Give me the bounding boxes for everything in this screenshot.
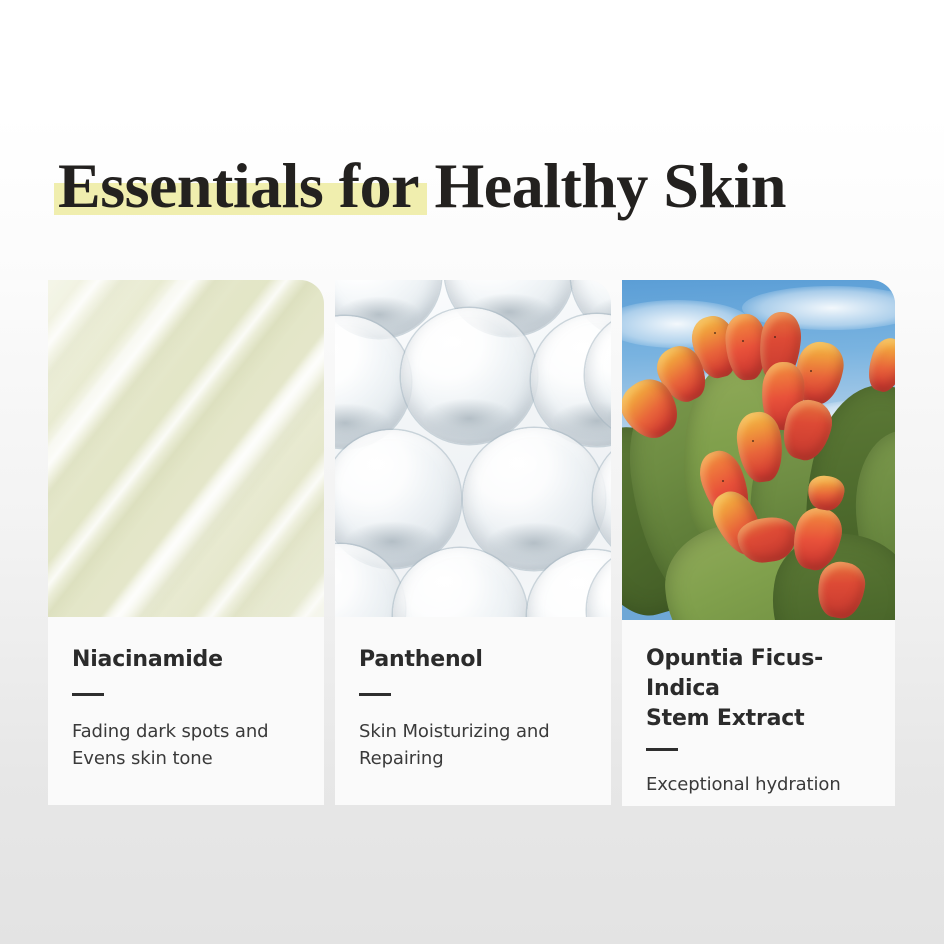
bubble-icon [463,428,605,570]
cactus-spine-speck [722,480,724,482]
card-description: Exceptional hydration [646,771,871,798]
card-image-cactus [622,280,895,620]
card-title: Opuntia Ficus-Indica Stem Extract [646,644,871,734]
page-title: Essentials for Healthy Skin [58,150,888,230]
cactus-spine-speck [742,340,744,342]
bubble-icon [401,308,537,444]
ingredient-card-panthenol[interactable]: Panthenol Skin Moisturizing and Repairin… [335,280,611,805]
cactus-spine-speck [810,370,812,372]
card-body: Niacinamide Fading dark spots and Evens … [48,617,324,805]
card-image-water-bubbles [335,280,611,617]
card-description: Fading dark spots and Evens skin tone [72,718,300,772]
card-title: Panthenol [359,645,587,675]
page-title-line: Essentials for Healthy Skin [58,150,888,222]
card-body: Opuntia Ficus-Indica Stem Extract Except… [622,620,895,806]
card-image-cream-texture [48,280,324,617]
card-body: Panthenol Skin Moisturizing and Repairin… [335,617,611,805]
cactus-spine-speck [774,336,776,338]
ingredient-card-opuntia-ficus-indica[interactable]: Opuntia Ficus-Indica Stem Extract Except… [622,280,895,806]
cream-sheen-overlay [48,280,324,617]
card-divider-dash [359,693,391,696]
card-divider-dash [72,693,104,696]
card-title: Niacinamide [72,645,300,675]
infographic-page: Essentials for Healthy Skin Niacinamide … [0,0,944,944]
card-divider-dash [646,748,678,751]
ingredient-card-niacinamide[interactable]: Niacinamide Fading dark spots and Evens … [48,280,324,805]
page-title-rest-text: Healthy Skin [419,150,786,221]
cactus-spine-speck [752,440,754,442]
page-title-highlighted-text: Essentials for [58,150,419,222]
cactus-spine-speck [714,332,716,334]
card-description: Skin Moisturizing and Repairing [359,718,587,772]
